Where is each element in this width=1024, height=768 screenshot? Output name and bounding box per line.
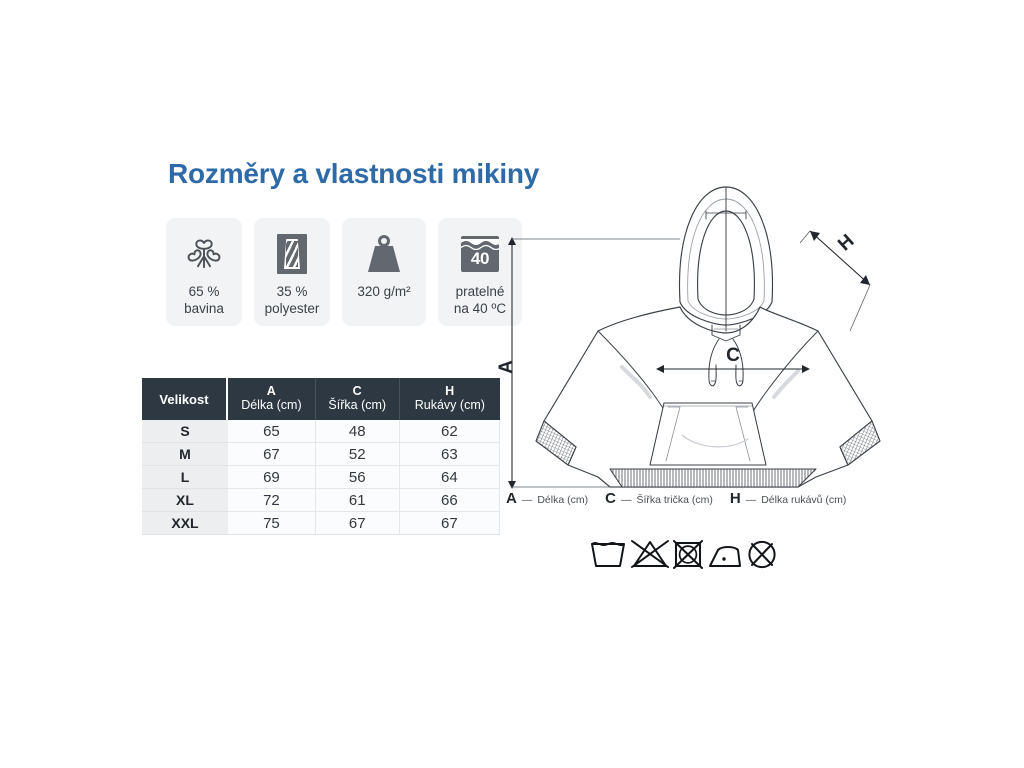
- property-tiles: 65 % bavina 35 % polyester: [166, 218, 522, 326]
- legend-dash-h: —: [746, 494, 757, 506]
- size-table: Velikost A Délka (cm) C Šířka (cm) H Ruk…: [142, 378, 500, 535]
- polyester-material: polyester: [265, 301, 320, 316]
- property-tile-polyester-label: 35 % polyester: [262, 283, 323, 318]
- property-tile-weight-label: 320 g/m²: [354, 283, 413, 300]
- cell-length: 75: [228, 512, 316, 535]
- washable-40-icon: 40: [461, 230, 499, 278]
- legend-item-c: C — Šířka trička (cm): [605, 490, 713, 507]
- cotton-percent: 65 %: [189, 284, 220, 299]
- cell-width: 48: [316, 420, 400, 443]
- table-header-h-sub: Rukávy (cm): [400, 398, 500, 413]
- legend-item-a: A — Délka (cm): [506, 490, 588, 507]
- content-card: Rozměry a vlastnosti mikiny: [128, 0, 896, 642]
- cell-size: S: [142, 420, 228, 443]
- cell-sleeve: 62: [400, 420, 500, 443]
- table-row: L 69 56 64: [142, 466, 500, 489]
- property-tile-cotton-label: 65 % bavina: [181, 283, 227, 318]
- polyester-spool-icon: [277, 230, 307, 278]
- cotton-plant-icon: [182, 230, 226, 278]
- property-tile-polyester: 35 % polyester: [254, 218, 330, 326]
- size-chart-image: Rozměry a vlastnosti mikiny: [0, 0, 1024, 768]
- cell-length: 67: [228, 443, 316, 466]
- table-header-a-sub: Délka (cm): [228, 398, 315, 413]
- legend-dash-c: —: [621, 494, 632, 506]
- table-header-c: C Šířka (cm): [316, 378, 400, 420]
- cell-size: XXL: [142, 512, 228, 535]
- cell-width: 56: [316, 466, 400, 489]
- weight-icon: [364, 230, 404, 278]
- cell-width: 61: [316, 489, 400, 512]
- legend-letter-a: A: [506, 490, 517, 507]
- table-row: S 65 48 62: [142, 420, 500, 443]
- hoodie-diagram: A C H: [498, 135, 898, 495]
- cell-width: 52: [316, 443, 400, 466]
- legend-letter-h: H: [730, 490, 741, 507]
- cell-width: 67: [316, 512, 400, 535]
- cell-length: 65: [228, 420, 316, 443]
- legend-item-h: H — Délka rukávů (cm): [730, 490, 847, 507]
- legend-letter-c: C: [605, 490, 616, 507]
- table-header-h-letter: H: [400, 385, 500, 399]
- table-header-c-letter: C: [316, 385, 399, 399]
- care-symbols: [588, 535, 778, 574]
- dimension-label-h: H: [834, 231, 858, 256]
- table-row: M 67 52 63: [142, 443, 500, 466]
- do-not-dry-clean-symbol: [749, 542, 774, 567]
- polyester-percent: 35 %: [277, 284, 308, 299]
- table-header-c-sub: Šířka (cm): [316, 398, 399, 413]
- cell-size: L: [142, 466, 228, 489]
- table-header-row: Velikost A Délka (cm) C Šířka (cm) H Ruk…: [142, 378, 500, 420]
- legend-text-a: Délka (cm): [537, 494, 588, 506]
- table-header-size: Velikost: [142, 378, 228, 420]
- legend-text-c: Šířka trička (cm): [636, 494, 712, 506]
- iron-low-symbol: [710, 547, 740, 566]
- cell-length: 69: [228, 466, 316, 489]
- wash-40-symbol: [592, 543, 624, 566]
- fabric-weight: 320 g/m²: [357, 284, 410, 299]
- table-row: XL 72 61 66: [142, 489, 500, 512]
- legend-text-h: Délka rukávů (cm): [761, 494, 846, 506]
- cotton-material: bavina: [184, 301, 224, 316]
- cell-length: 72: [228, 489, 316, 512]
- dimension-label-a: A: [498, 360, 517, 374]
- dimension-label-c: C: [726, 345, 740, 366]
- cell-size: XL: [142, 489, 228, 512]
- property-tile-weight: 320 g/m²: [342, 218, 426, 326]
- cell-size: M: [142, 443, 228, 466]
- legend-dash-a: —: [522, 494, 533, 506]
- dimension-legend: A — Délka (cm) C — Šířka trička (cm) H —…: [506, 490, 846, 507]
- do-not-tumble-dry-symbol: [674, 541, 702, 568]
- do-not-bleach-symbol: [632, 541, 668, 567]
- property-tile-cotton: 65 % bavina: [166, 218, 242, 326]
- table-row: XXL 75 67 67: [142, 512, 500, 535]
- wash-temperature: 40: [471, 250, 489, 272]
- table-header-h: H Rukávy (cm): [400, 378, 500, 420]
- cell-sleeve: 63: [400, 443, 500, 466]
- table-header-a: A Délka (cm): [228, 378, 316, 420]
- cell-sleeve: 67: [400, 512, 500, 535]
- cell-sleeve: 64: [400, 466, 500, 489]
- page-title: Rozměry a vlastnosti mikiny: [168, 158, 539, 190]
- cell-sleeve: 66: [400, 489, 500, 512]
- table-header-a-letter: A: [228, 385, 315, 399]
